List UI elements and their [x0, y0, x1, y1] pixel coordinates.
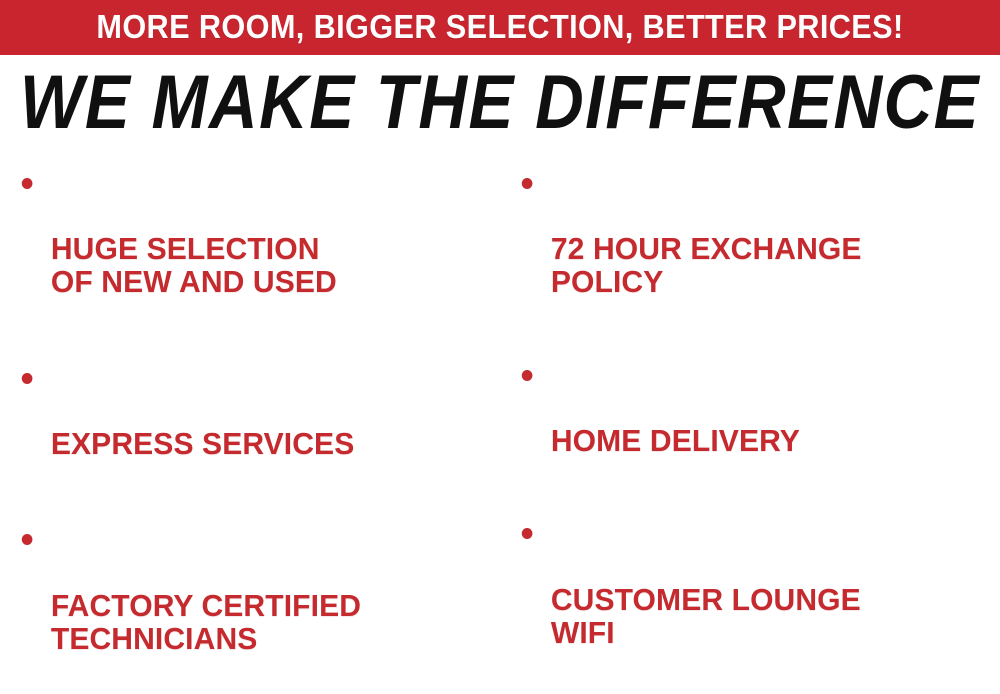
- list-item: HOME DELIVERY: [514, 358, 985, 491]
- page-title: WE MAKE THE DIFFERENCE: [20, 64, 980, 140]
- list-item-label: EXPRESS SERVICES: [51, 427, 486, 460]
- top-banner: MORE ROOM, BIGGER SELECTION, BETTER PRIC…: [0, 0, 1000, 55]
- poster-root: MORE ROOM, BIGGER SELECTION, BETTER PRIC…: [0, 0, 1000, 694]
- list-item: EXPRESS SERVICES: [14, 361, 485, 494]
- list-item: CUSTOMER LOUNGE WIFI: [514, 516, 985, 682]
- bullet-dot-icon: [22, 373, 33, 384]
- list-item-label: 72 HOUR EXCHANGE POLICY: [551, 232, 986, 298]
- benefits-column-left: HUGE SELECTION OF NEW AND USED EXPRESS S…: [0, 160, 500, 694]
- benefit-list-left: HUGE SELECTION OF NEW AND USED EXPRESS S…: [14, 166, 500, 694]
- bullet-dot-icon: [22, 534, 33, 545]
- list-item-label: HUGE SELECTION OF NEW AND USED: [51, 232, 486, 298]
- bullet-dot-icon: [522, 528, 533, 539]
- list-item: HUGE SELECTION OF NEW AND USED: [14, 166, 485, 332]
- bullet-dot-icon: [522, 370, 533, 381]
- list-item-label: HOME DELIVERY: [551, 424, 986, 457]
- list-item: FACTORY CERTIFIED TECHNICIANS: [14, 522, 485, 688]
- bullet-dot-icon: [522, 178, 533, 189]
- headline-container: WE MAKE THE DIFFERENCE: [0, 62, 1000, 142]
- banner-headline-text: MORE ROOM, BIGGER SELECTION, BETTER PRIC…: [96, 10, 903, 45]
- benefits-column-right: 72 HOUR EXCHANGE POLICY HOME DELIVERY CU…: [500, 160, 1000, 694]
- benefits-columns: HUGE SELECTION OF NEW AND USED EXPRESS S…: [0, 160, 1000, 694]
- list-item: 72 HOUR EXCHANGE POLICY: [514, 166, 985, 332]
- list-item-label: CUSTOMER LOUNGE WIFI: [551, 583, 986, 649]
- benefit-list-right: 72 HOUR EXCHANGE POLICY HOME DELIVERY CU…: [514, 166, 1000, 694]
- list-item-label: FACTORY CERTIFIED TECHNICIANS: [51, 589, 486, 655]
- bullet-dot-icon: [22, 178, 33, 189]
